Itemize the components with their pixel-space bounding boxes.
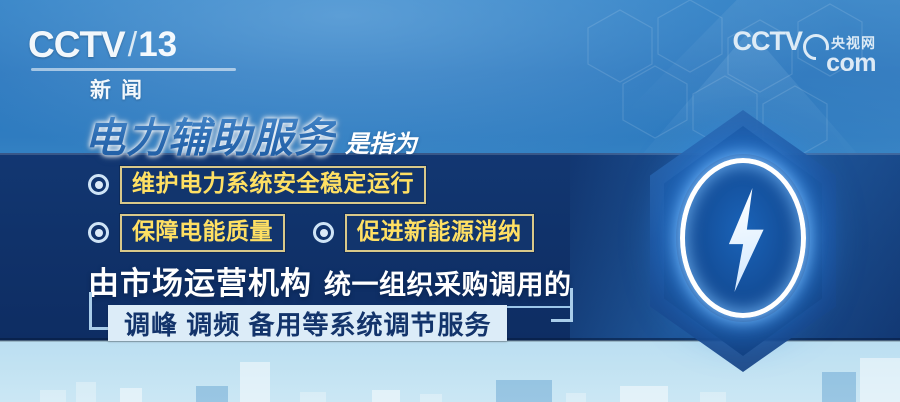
body-line-3: 由市场运营机构 统一组织采购调用的 [88, 258, 572, 308]
body-line-4-band: 调峰 调频 备用等系统调节服务 [108, 305, 507, 341]
headline: 电力辅助服务 是指为 [84, 104, 417, 164]
broadcast-graphic: CCTV / 13 新闻 CCTV 央视网 com 电力辅助服务 是指为 维护电… [0, 0, 900, 402]
headline-main: 电力辅助服务 [84, 104, 336, 164]
lightning-badge [628, 110, 858, 380]
bullet-row-1: 维护电力系统安全稳定运行 [88, 166, 426, 204]
cctv-wordmark: CCTV [28, 24, 125, 66]
circle-target-icon [88, 174, 109, 195]
watermark-cctv: CCTV [733, 26, 803, 57]
logo-underline [31, 68, 236, 71]
bullet-tag: 促进新能源消纳 [345, 214, 534, 252]
bullet-tag: 维护电力系统安全稳定运行 [120, 166, 426, 204]
circle-target-icon [313, 222, 334, 243]
line3-secondary: 统一组织采购调用的 [324, 263, 572, 308]
line4-text: 调峰 调频 备用等系统调节服务 [124, 305, 491, 342]
bracket-right [551, 288, 573, 322]
bullet-row-2: 保障电能质量 促进新能源消纳 [88, 214, 534, 252]
channel-number: 13 [138, 25, 177, 65]
bracket-left [89, 292, 109, 330]
cctv-com-watermark: CCTV 央视网 com [733, 26, 877, 78]
cctv13-logo: CCTV / 13 新闻 [28, 24, 278, 94]
headline-suffix: 是指为 [345, 124, 417, 159]
circle-target-icon [88, 222, 109, 243]
channel-subtitle: 新闻 [90, 74, 278, 104]
logo-slash: / [128, 26, 137, 65]
line3-primary: 由市场运营机构 [88, 258, 312, 303]
bullet-tag: 保障电能质量 [120, 214, 285, 252]
